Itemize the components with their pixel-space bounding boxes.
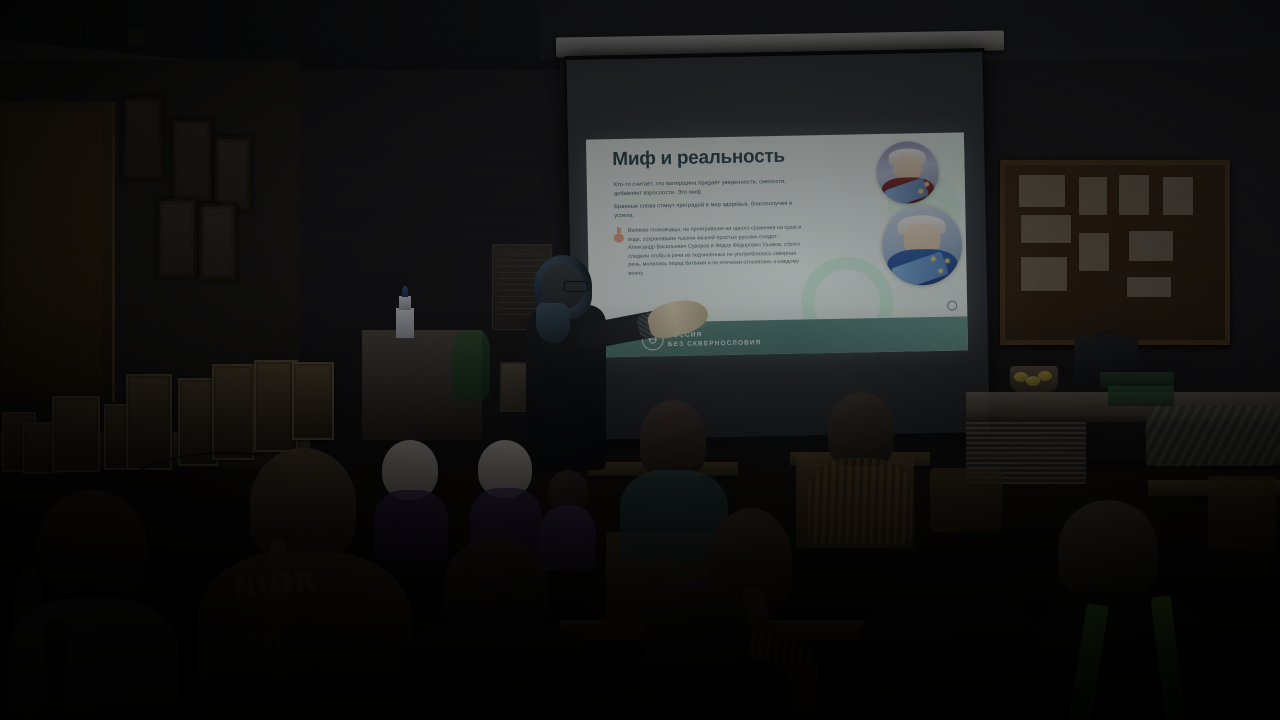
sweatshirt-text-line-3: 28 [238,615,371,663]
headscarf-tail [536,303,570,343]
student-back-row-left [808,392,914,542]
eyeglasses-icon [564,281,588,292]
framed-icon [126,374,172,470]
green-cloth [452,330,490,400]
model-church [392,286,418,338]
backpack-strap [44,620,66,716]
student-front-center [400,538,590,720]
door-panel [2,112,102,392]
portrait-suvorov [881,204,963,286]
slide-paragraph-1: Кто-то считает, что матерщина придаёт ув… [614,178,799,200]
wall-certificate [171,118,213,204]
wall-certificate [157,198,197,278]
slide-title: Миф и реальность [612,146,785,171]
board-paper [1021,257,1067,291]
board-paper [1079,177,1107,215]
student-front-left [8,490,184,720]
board-paper [1163,177,1193,215]
wall-switch[interactable] [128,28,144,46]
wall-certificate [214,136,252,212]
folded-blanket [1146,406,1280,466]
board-paper [1127,277,1171,297]
chair[interactable] [930,468,1002,532]
board-paper [1021,215,1071,243]
board-paper [1119,175,1149,215]
pointing-finger-icon [613,227,625,243]
framed-icon [212,364,254,460]
slide-page-mark [947,301,957,311]
classroom-photo-scene: Миф и реальность Кто-то считает, что мат… [0,0,1280,720]
green-box [1108,386,1174,406]
board-paper [1019,175,1065,207]
student-front-right [592,578,792,720]
board-paper [1079,233,1109,271]
portrait-ushakov [876,141,939,204]
board-paper [1129,231,1173,261]
fruit-basket [1010,366,1058,392]
wall-certificate [122,96,164,180]
student-front-far-right [860,590,1040,720]
framed-icon [292,362,334,440]
student-green-backpack [1032,500,1212,720]
presenter [520,255,630,470]
slide-quote: Великие полководцы, не проигравшие ни од… [628,223,809,278]
slide-paragraph-2: Бранные слова станут преградой в мир здо… [614,200,799,222]
framed-icon [52,396,100,472]
chair[interactable] [1208,476,1276,550]
logo-line-2: БЕЗ СКВЕРНОСЛОВИЯ [668,338,762,349]
wall-certificate [199,203,237,281]
bulletin-board [1000,160,1230,345]
sweatshirt-print: nior NIOR 28 [231,550,372,673]
